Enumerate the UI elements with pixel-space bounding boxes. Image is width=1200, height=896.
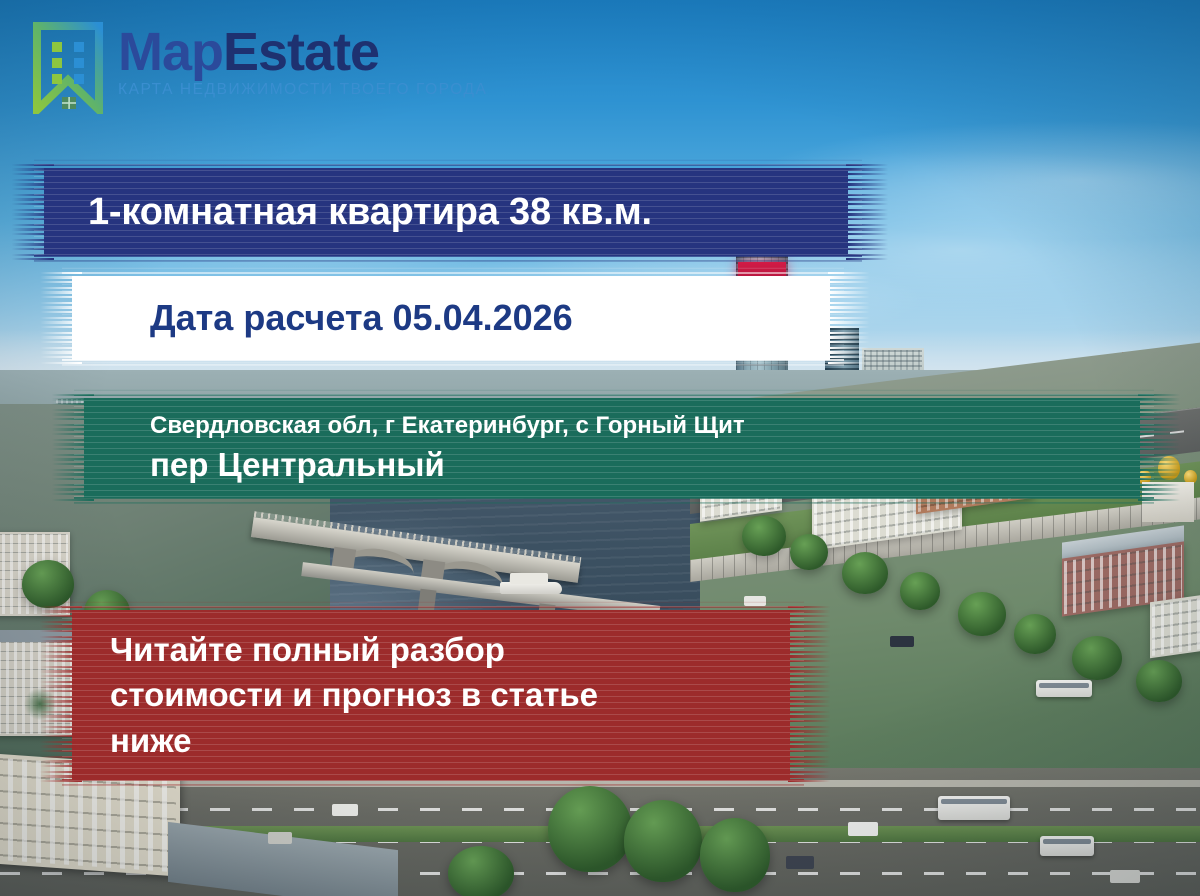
cta-line-1: Читайте полный разбор (110, 627, 804, 673)
cta-line-2: стоимости и прогноз в статье (110, 672, 804, 718)
calculation-date-text: Дата расчета 05.04.2026 (150, 297, 844, 339)
brand-name-map: Map (118, 22, 223, 82)
address-banner: Свердловская обл, г Екатеринбург, с Горн… (74, 394, 1154, 502)
brand-wordmark: MapEstate (118, 26, 487, 79)
address-region-city: Свердловская обл, г Екатеринбург, с Горн… (150, 412, 1154, 440)
cta-line-3: ниже (110, 718, 804, 764)
cta-banner[interactable]: Читайте полный разбор стоимости и прогно… (62, 606, 804, 784)
brand-logo[interactable]: MapEstate КАРТА НЕДВИЖИМОСТИ ТВОЕГО ГОРО… (32, 22, 487, 114)
brand-tagline: КАРТА НЕДВИЖИМОСТИ ТВОЕГО ГОРОДА (118, 81, 487, 99)
property-type-banner: 1-комнатная квартира 38 кв.м. (34, 164, 862, 260)
address-text-group: Свердловская обл, г Екатеринбург, с Горн… (150, 412, 1154, 484)
bookmark-building-icon (32, 22, 104, 114)
promo-poster: MapEstate КАРТА НЕДВИЖИМОСТИ ТВОЕГО ГОРО… (0, 0, 1200, 896)
cta-text-group: Читайте полный разбор стоимости и прогно… (110, 627, 804, 764)
address-street: пер Центральный (150, 446, 1154, 484)
river-boat (500, 568, 562, 594)
calculation-date-banner: Дата расчета 05.04.2026 (62, 272, 844, 364)
brand-name-estate: Estate (223, 22, 379, 82)
property-type-text: 1-комнатная квартира 38 кв.м. (88, 191, 862, 234)
